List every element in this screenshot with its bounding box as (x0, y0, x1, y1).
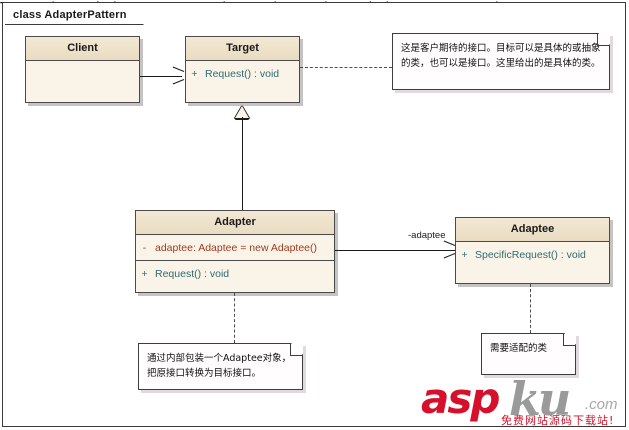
edge-adapter-to-target (242, 117, 243, 210)
class-operations-adaptee: + SpecificRequest() : void (456, 242, 609, 267)
edge-adapter-to-adaptee (335, 250, 455, 251)
arrowhead-adapter-to-adaptee (443, 244, 455, 256)
member-signature: adaptee: Adaptee = new Adaptee() (153, 242, 317, 254)
visibility-marker: + (136, 268, 153, 280)
diagram-frame-label-text: class AdapterPattern (13, 9, 127, 21)
note-text: 通过内部包装一个Adaptee对象，把原接口转换为目标接口。 (147, 353, 291, 379)
class-operations-target: + Request() : void (186, 61, 299, 86)
note-target-description[interactable]: 这是客户期待的接口。目标可以是具体的或抽象的类，也可以是接口。这里给出的是具体的… (392, 33, 610, 90)
class-body-client (26, 61, 139, 103)
class-box-client[interactable]: Client (25, 36, 140, 103)
visibility-marker: + (186, 68, 203, 80)
class-box-target[interactable]: Target + Request() : void (185, 36, 300, 103)
note-adapter-description[interactable]: 通过内部包装一个Adaptee对象，把原接口转换为目标接口。 (138, 343, 303, 390)
note-text: 需要适配的类 (490, 343, 547, 354)
class-name-adapter: Adapter (136, 211, 334, 235)
note-anchor-adapter (234, 293, 235, 343)
note-adaptee-description[interactable]: 需要适配的类 (481, 333, 576, 375)
note-fold-icon (597, 33, 610, 46)
note-fold-icon (563, 333, 576, 346)
note-anchor-adaptee (530, 284, 531, 333)
visibility-marker: - (136, 242, 153, 254)
class-attributes-adapter: - adaptee: Adaptee = new Adaptee() (136, 235, 334, 261)
member-signature: Request() : void (153, 268, 229, 280)
member-row: + Request() : void (136, 261, 334, 286)
member-row: + SpecificRequest() : void (456, 242, 609, 267)
class-name-adaptee: Adaptee (456, 218, 609, 242)
edge-label-adaptee-role: -adaptee (408, 230, 446, 241)
member-signature: Request() : void (203, 68, 279, 80)
visibility-marker: + (456, 249, 473, 261)
note-fold-icon (290, 343, 303, 356)
class-box-adaptee[interactable]: Adaptee + SpecificRequest() : void (455, 217, 610, 284)
class-name-client: Client (26, 37, 139, 61)
note-text: 这是客户期待的接口。目标可以是具体的或抽象的类，也可以是接口。这里给出的是具体的… (401, 43, 601, 69)
note-anchor-target (300, 67, 392, 68)
member-row: + Request() : void (186, 61, 299, 86)
arrowhead-client-to-target (172, 70, 184, 82)
class-operations-adapter: + Request() : void (136, 261, 334, 286)
member-row: - adaptee: Adaptee = new Adaptee() (136, 235, 334, 260)
class-name-target: Target (186, 37, 299, 61)
class-box-adapter[interactable]: Adapter - adaptee: Adaptee = new Adaptee… (135, 210, 335, 293)
member-signature: SpecificRequest() : void (473, 249, 586, 261)
diagram-frame-label: class AdapterPattern (5, 5, 144, 25)
